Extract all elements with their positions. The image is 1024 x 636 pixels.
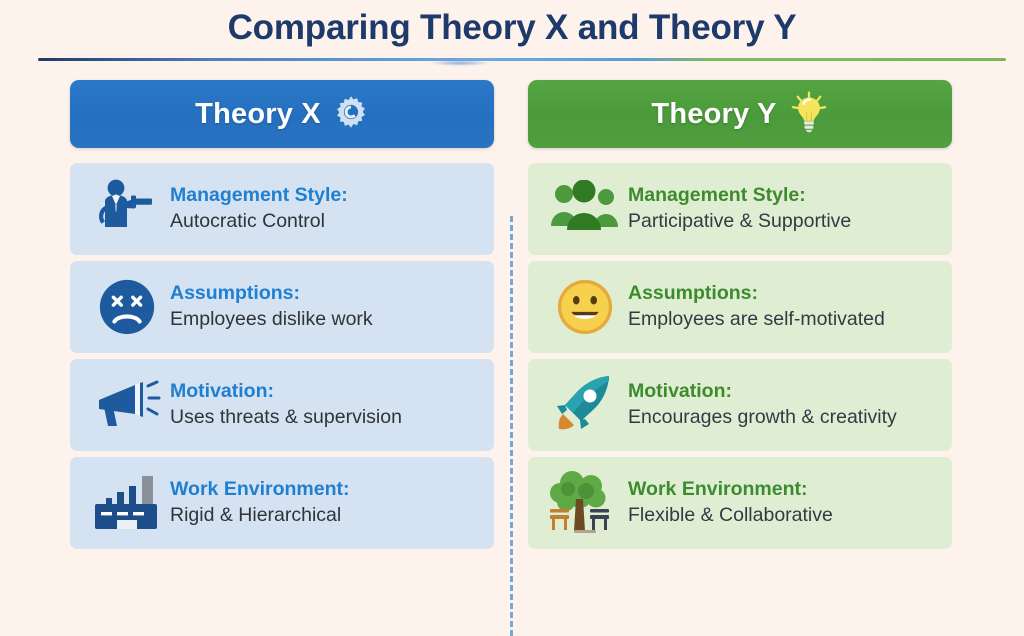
row-text: Assumptions: Employees dislike work	[170, 282, 373, 331]
rocket-icon	[542, 370, 628, 440]
page-title: Comparing Theory X and Theory Y	[0, 8, 1024, 48]
row-text: Assumptions: Employees are self-motivate…	[628, 282, 885, 331]
tree-with-benches-icon	[542, 468, 628, 538]
manager-with-telescope-icon	[84, 174, 170, 244]
table-row[interactable]: Motivation: Encourages growth & creativi…	[528, 359, 952, 451]
row-label: Work Environment:	[628, 478, 833, 502]
row-value: Flexible & Collaborative	[628, 503, 833, 527]
row-value: Employees dislike work	[170, 307, 373, 331]
table-row[interactable]: Assumptions: Employees dislike work	[70, 261, 494, 353]
row-label: Management Style:	[170, 184, 348, 208]
title-underline-glow	[430, 60, 490, 66]
table-row[interactable]: Motivation: Uses threats & supervision	[70, 359, 494, 451]
row-value: Rigid & Hierarchical	[170, 503, 350, 527]
row-value: Employees are self-motivated	[628, 307, 885, 331]
column-header-label-theory-y: Theory Y	[651, 98, 776, 131]
title-area: Comparing Theory X and Theory Y	[0, 0, 1024, 62]
table-row[interactable]: Management Style: Participative & Suppor…	[528, 163, 952, 255]
row-value: Autocratic Control	[170, 209, 348, 233]
column-header-theory-y[interactable]: Theory Y	[528, 80, 952, 148]
column-theory-y: Theory Y	[528, 80, 952, 555]
row-label: Motivation:	[628, 380, 897, 404]
sad-face-icon	[84, 272, 170, 342]
row-value: Uses threats & supervision	[170, 405, 402, 429]
table-row[interactable]: Assumptions: Employees are self-motivate…	[528, 261, 952, 353]
vertical-dashed-divider	[510, 216, 513, 636]
row-text: Work Environment: Flexible & Collaborati…	[628, 478, 833, 527]
row-text: Motivation: Encourages growth & creativi…	[628, 380, 897, 429]
column-theory-x: Theory X	[70, 80, 494, 555]
table-row[interactable]: Work Environment: Flexible & Collaborati…	[528, 457, 952, 549]
row-text: Management Style: Autocratic Control	[170, 184, 348, 233]
group-of-people-icon	[542, 174, 628, 244]
row-label: Management Style:	[628, 184, 851, 208]
table-row[interactable]: Management Style: Autocratic Control	[70, 163, 494, 255]
row-value: Encourages growth & creativity	[628, 405, 897, 429]
rows-theory-x: Management Style: Autocratic Control	[70, 163, 494, 549]
megaphone-icon	[84, 370, 170, 440]
row-text: Motivation: Uses threats & supervision	[170, 380, 402, 429]
factory-icon	[84, 468, 170, 538]
row-label: Motivation:	[170, 380, 402, 404]
table-row[interactable]: Work Environment: Rigid & Hierarchical	[70, 457, 494, 549]
lightbulb-icon	[789, 91, 829, 138]
gear-icon	[333, 94, 369, 135]
column-header-label-theory-x: Theory X	[195, 98, 321, 131]
rows-theory-y: Management Style: Participative & Suppor…	[528, 163, 952, 549]
smiley-face-icon	[542, 272, 628, 342]
comparison-columns: Theory X	[0, 80, 1024, 580]
column-header-theory-x[interactable]: Theory X	[70, 80, 494, 148]
row-label: Assumptions:	[628, 282, 885, 306]
title-underline-rule	[38, 58, 1006, 61]
row-text: Management Style: Participative & Suppor…	[628, 184, 851, 233]
row-value: Participative & Supportive	[628, 209, 851, 233]
row-label: Work Environment:	[170, 478, 350, 502]
row-text: Work Environment: Rigid & Hierarchical	[170, 478, 350, 527]
row-label: Assumptions:	[170, 282, 373, 306]
